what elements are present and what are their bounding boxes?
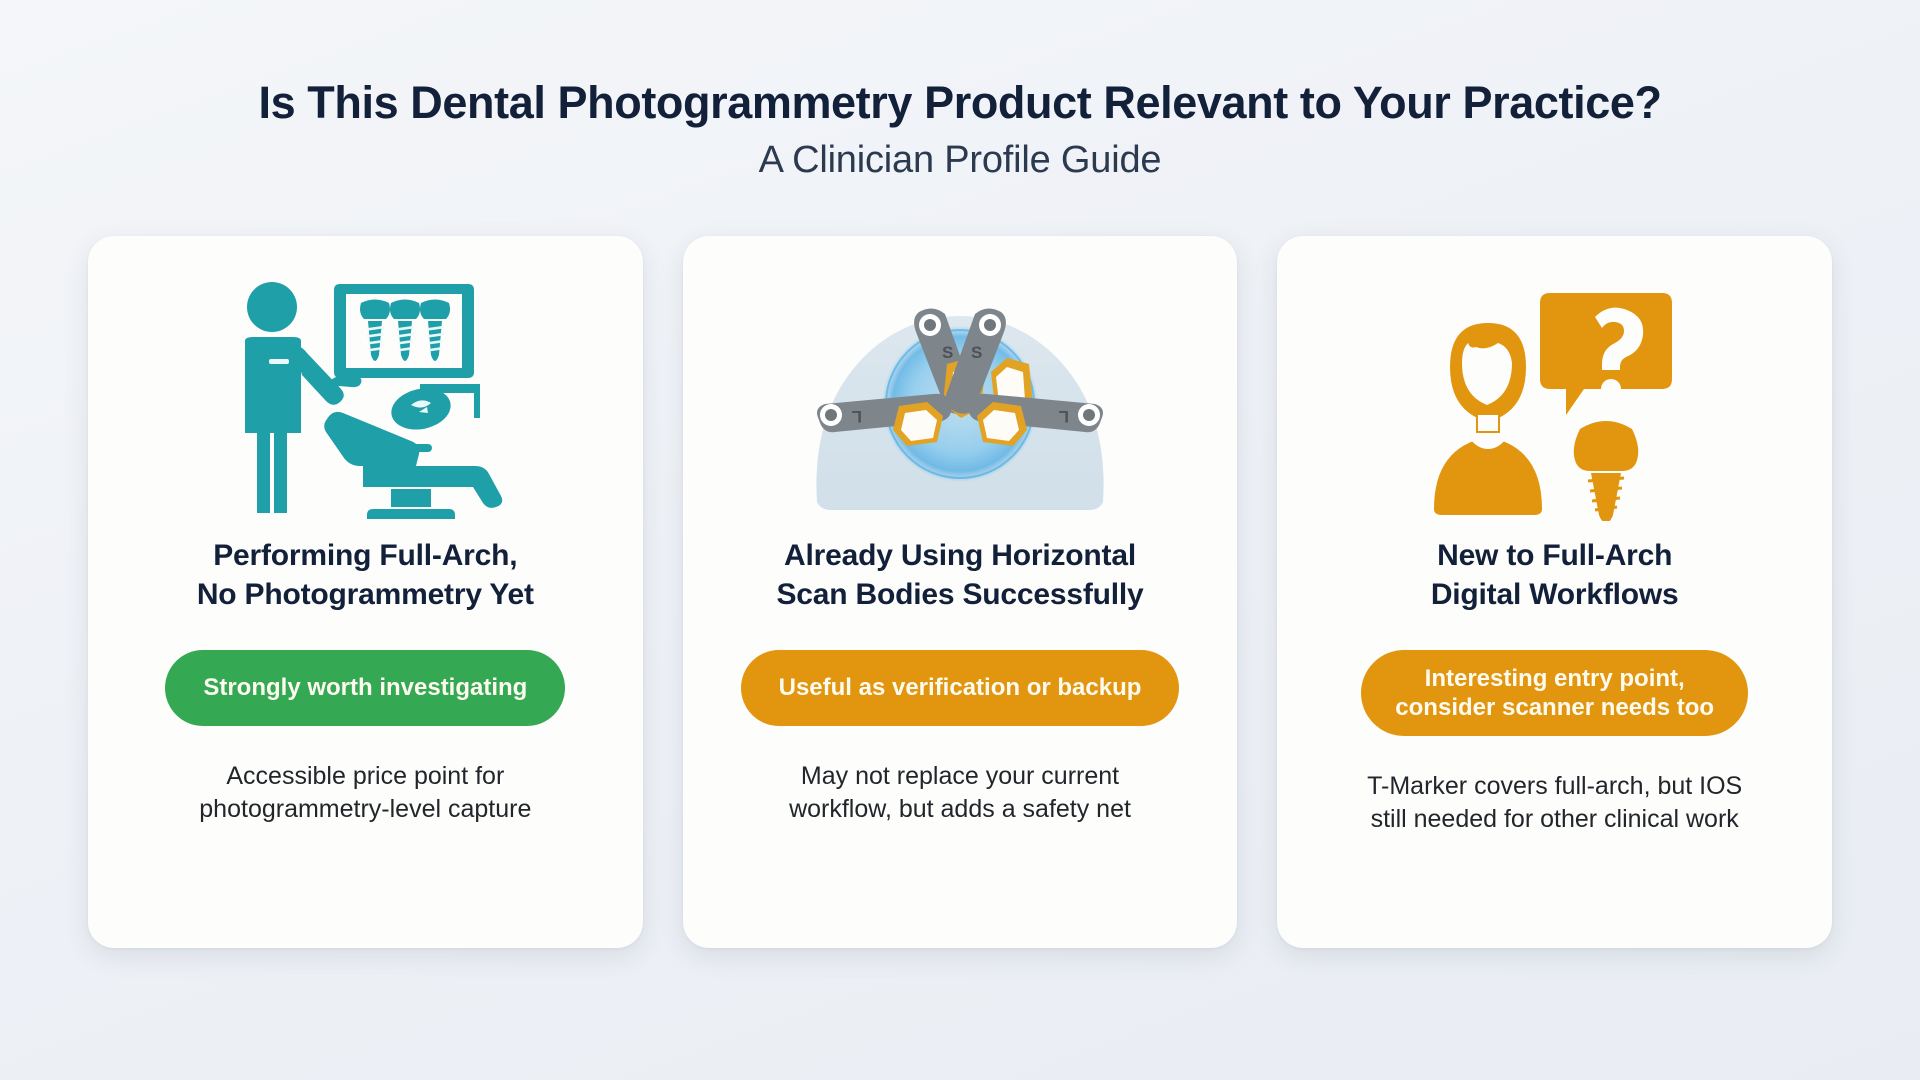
- card-recommendation-badge: Useful as verification or backup: [741, 650, 1180, 726]
- svg-text:L: L: [1059, 407, 1069, 426]
- profile-card-performing-full-arch[interactable]: Performing Full-Arch, No Photogrammetry …: [88, 236, 643, 948]
- implant-glyph: [1573, 421, 1638, 521]
- card-note: T-Marker covers full-arch, but IOS still…: [1367, 770, 1742, 836]
- card-heading: Already Using Horizontal Scan Bodies Suc…: [776, 536, 1143, 614]
- page-subtitle: A Clinician Profile Guide: [0, 138, 1920, 184]
- profile-card-new-to-full-arch[interactable]: New to Full-Arch Digital Workflows Inter…: [1277, 236, 1832, 948]
- card-note: Accessible price point for photogrammetr…: [199, 760, 531, 826]
- card-heading: New to Full-Arch Digital Workflows: [1431, 536, 1679, 614]
- profile-card-already-using-scan-bodies[interactable]: S S: [683, 236, 1238, 948]
- page-title: Is This Dental Photogrammetry Product Re…: [0, 78, 1920, 128]
- profile-cards-row: Performing Full-Arch, No Photogrammetry …: [0, 236, 1920, 948]
- infographic-page: Is This Dental Photogrammetry Product Re…: [0, 0, 1920, 1080]
- card-icon-wrap: S S: [713, 262, 1208, 530]
- svg-text:L: L: [852, 407, 862, 426]
- card-recommendation-badge: Interesting entry point, consider scanne…: [1361, 650, 1748, 736]
- person-with-question-mark-and-dental-implant-icon: [1420, 271, 1690, 521]
- card-icon-wrap: [1307, 262, 1802, 530]
- dental-arch-with-horizontal-scan-bodies-icon: S S: [795, 276, 1125, 516]
- card-recommendation-badge: Strongly worth investigating: [165, 650, 565, 726]
- card-heading: Performing Full-Arch, No Photogrammetry …: [197, 536, 534, 614]
- svg-text:S: S: [971, 343, 982, 362]
- header: Is This Dental Photogrammetry Product Re…: [0, 0, 1920, 184]
- svg-text:S: S: [942, 343, 953, 362]
- card-icon-wrap: [118, 262, 613, 530]
- card-note: May not replace your current workflow, b…: [789, 760, 1131, 826]
- dentist-with-implant-xray-and-chair-icon: [215, 271, 515, 521]
